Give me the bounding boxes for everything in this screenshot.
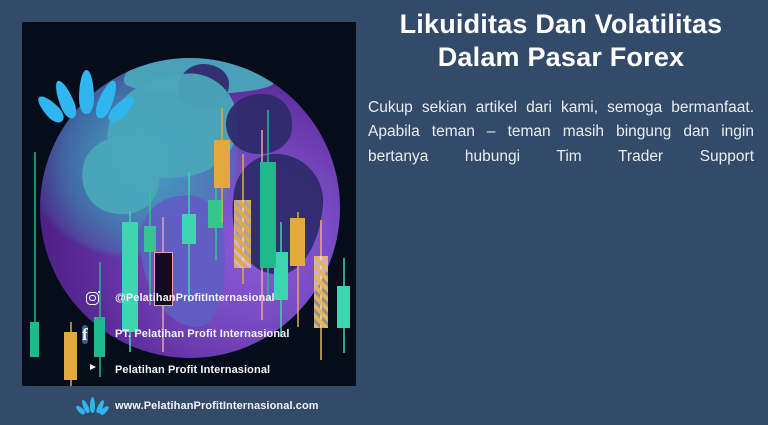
social-row-instagram[interactable]: @PelatihanProfitInternasional	[82, 280, 382, 316]
social-label-facebook: PT. Pelatihan Profit Internasional	[115, 328, 290, 340]
social-label-youtube: Pelatihan Profit Internasional	[115, 364, 270, 376]
candlestick	[234, 154, 251, 284]
forex-article-banner: Likuiditas Dan Volatilitas Dalam Pasar F…	[0, 0, 768, 425]
candlestick	[30, 152, 39, 357]
social-label-instagram: @PelatihanProfitInternasional	[115, 292, 275, 304]
article-content: Likuiditas Dan Volatilitas Dalam Pasar F…	[368, 0, 754, 425]
youtube-icon	[82, 360, 103, 381]
social-row-website[interactable]: www.PelatihanProfitInternasional.com	[82, 388, 382, 424]
candlestick	[214, 108, 230, 223]
facebook-icon: f	[82, 324, 103, 345]
lotus-logo-icon	[82, 396, 103, 417]
candlestick	[64, 322, 77, 386]
lotus-petal	[90, 397, 95, 413]
page-title: Likuiditas Dan Volatilitas Dalam Pasar F…	[368, 0, 754, 74]
social-links-list: @PelatihanProfitInternasional f PT. Pela…	[82, 280, 382, 424]
social-row-facebook[interactable]: f PT. Pelatihan Profit Internasional	[82, 316, 382, 352]
social-row-youtube[interactable]: Pelatihan Profit Internasional	[82, 352, 382, 388]
candlestick	[260, 110, 276, 300]
social-label-website: www.PelatihanProfitInternasional.com	[115, 400, 319, 412]
article-body-text: Cukup sekian artikel dari kami, semoga b…	[368, 74, 754, 169]
instagram-icon	[82, 288, 103, 309]
